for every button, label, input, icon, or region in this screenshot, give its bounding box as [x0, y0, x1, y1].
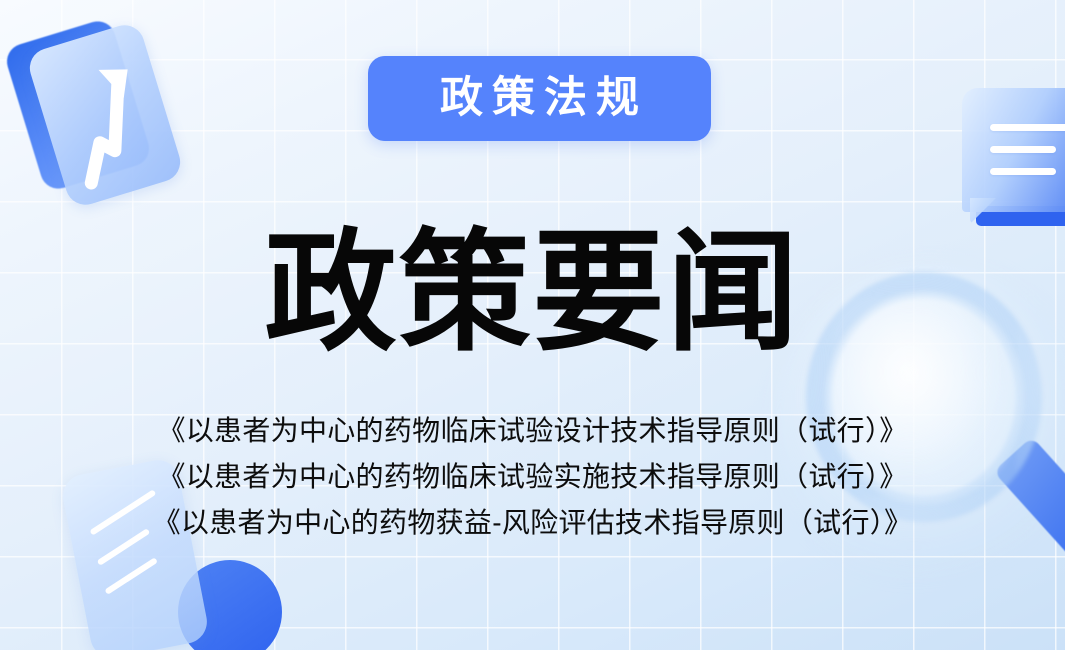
bubble-line-1 — [990, 124, 1065, 131]
document-list: 《以患者为中心的药物临床试验设计技术指导原则（试行）》 《以患者为中心的药物临床… — [0, 408, 1065, 546]
category-badge-label: 政策法规 — [431, 77, 648, 120]
list-item[interactable]: 《以患者为中心的药物临床试验设计技术指导原则（试行）》 — [0, 408, 1065, 454]
document-lines-bubble-icon — [962, 88, 1065, 223]
bubble-line-2 — [990, 146, 1056, 153]
trending-up-card-icon — [8, 18, 208, 218]
card-line-3 — [104, 557, 158, 595]
poster-canvas: 政策法规 政策要闻 《以患者为中心的药物临床试验设计技术指导原则（试行）》 《以… — [0, 0, 1065, 650]
page-title: 政策要闻 — [0, 218, 1065, 368]
bubble-line-3 — [990, 168, 1056, 175]
category-badge[interactable]: 政策法规 — [368, 56, 711, 141]
list-item[interactable]: 《以患者为中心的药物临床试验实施技术指导原则（试行）》 — [0, 454, 1065, 500]
list-item[interactable]: 《以患者为中心的药物获益-风险评估技术指导原则（试行）》 — [0, 500, 1065, 546]
